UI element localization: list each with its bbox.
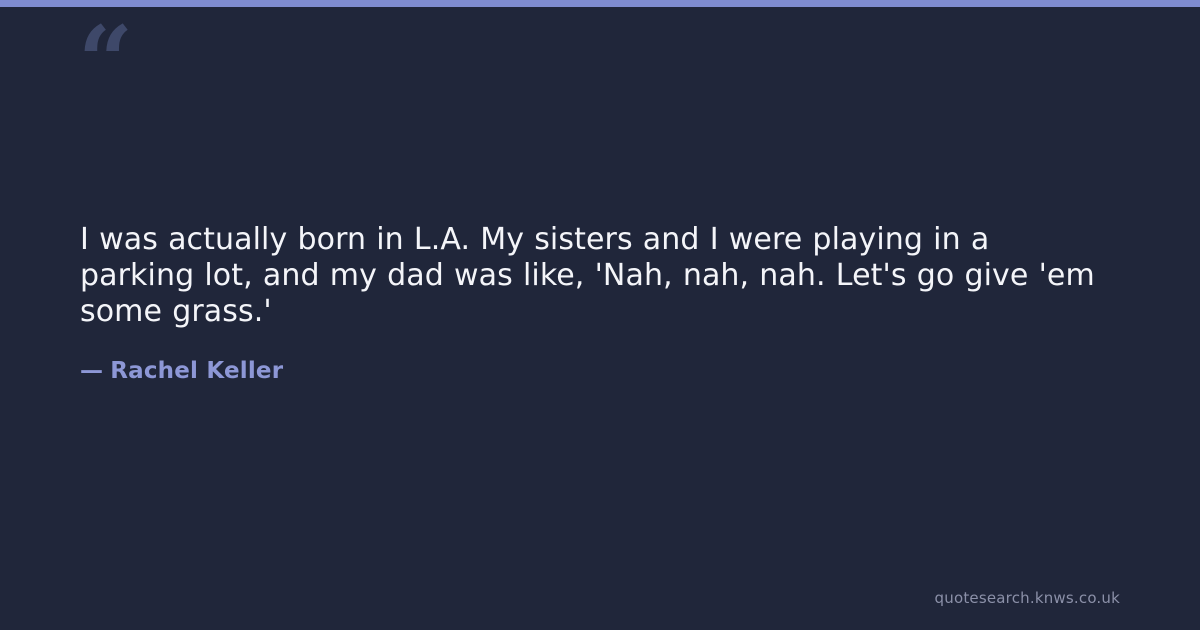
quote-card: “ I was actually born in L.A. My sisters… [0, 0, 1200, 630]
quote-text: I was actually born in L.A. My sisters a… [80, 222, 1110, 330]
top-accent-bar [0, 0, 1200, 7]
site-watermark: quotesearch.knws.co.uk [935, 588, 1120, 608]
attribution-author: Rachel Keller [110, 358, 283, 384]
attribution-dash: — [80, 356, 103, 386]
quote-body: I was actually born in L.A. My sisters a… [80, 222, 1110, 330]
opening-quote-mark-icon: “ [78, 14, 131, 110]
quote-attribution: —Rachel Keller [80, 356, 283, 386]
